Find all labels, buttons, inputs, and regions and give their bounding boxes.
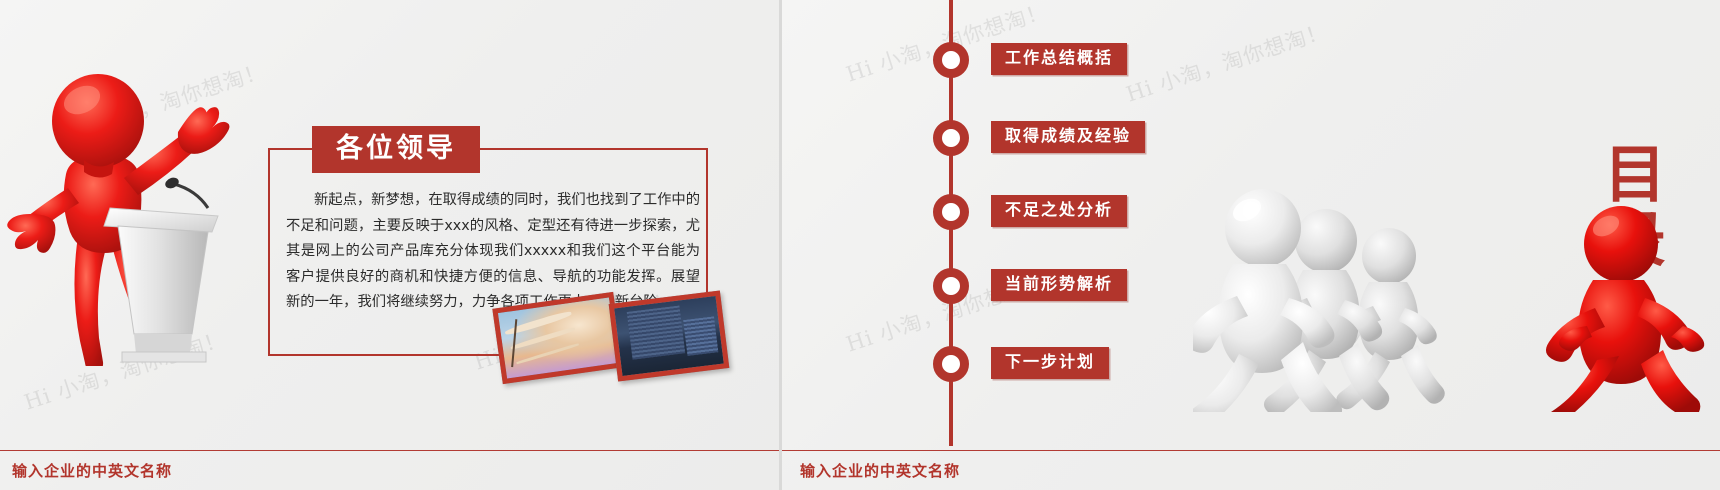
running-3d-figures-group: [1193, 186, 1720, 412]
photo-thumbnail-sailboat[interactable]: [492, 292, 623, 384]
slide-footer: 输入企业的中英文名称: [0, 450, 779, 490]
slide-greeting[interactable]: Hi 小淘，淘你想淘！ Hi 小淘，淘你想淘！ Hi 小淘，淘你想淘！: [0, 0, 779, 490]
watermark: Hi 小淘，淘你想淘！: [1122, 15, 1332, 109]
sidebar-item-label: 不足之处分析: [991, 195, 1127, 227]
timeline-node-icon: [933, 268, 969, 304]
photo-thumbnail-sailboat-image: [498, 298, 618, 379]
speech-body-text: 新起点，新梦想，在取得成绩的同时，我们也找到了工作中的不足和问题，主要反映于xx…: [286, 188, 700, 316]
sidebar-item-label: 下一步计划: [991, 347, 1109, 379]
footer-company-name: 输入企业的中英文名称: [800, 460, 960, 481]
timeline-node-icon: [933, 120, 969, 156]
sidebar-item-label: 当前形势解析: [991, 269, 1127, 301]
photo-thumbnail-office-building-image: [614, 296, 724, 376]
red-speaker-at-podium-3d-figure: [6, 66, 236, 366]
slide-deck: Hi 小淘，淘你想淘！ Hi 小淘，淘你想淘！ Hi 小淘，淘你想淘！: [0, 0, 1720, 490]
page-title: 各位领导: [312, 126, 480, 173]
sidebar-item-label: 工作总结概括: [991, 43, 1127, 75]
timeline-node-icon: [933, 346, 969, 382]
timeline-node-icon: [933, 42, 969, 78]
timeline-node-icon: [933, 194, 969, 230]
red-runner: [1546, 206, 1704, 412]
slide-footer: 输入企业的中英文名称: [782, 450, 1720, 490]
sidebar-item-label: 取得成绩及经验: [991, 121, 1145, 153]
footer-company-name: 输入企业的中英文名称: [12, 460, 172, 481]
photo-thumbnail-office-building[interactable]: [609, 290, 730, 381]
slide-table-of-contents[interactable]: Hi 小淘，淘你想淘！ Hi 小淘，淘你想淘！ Hi 小淘，淘你想淘！ 目录 工…: [782, 0, 1720, 490]
